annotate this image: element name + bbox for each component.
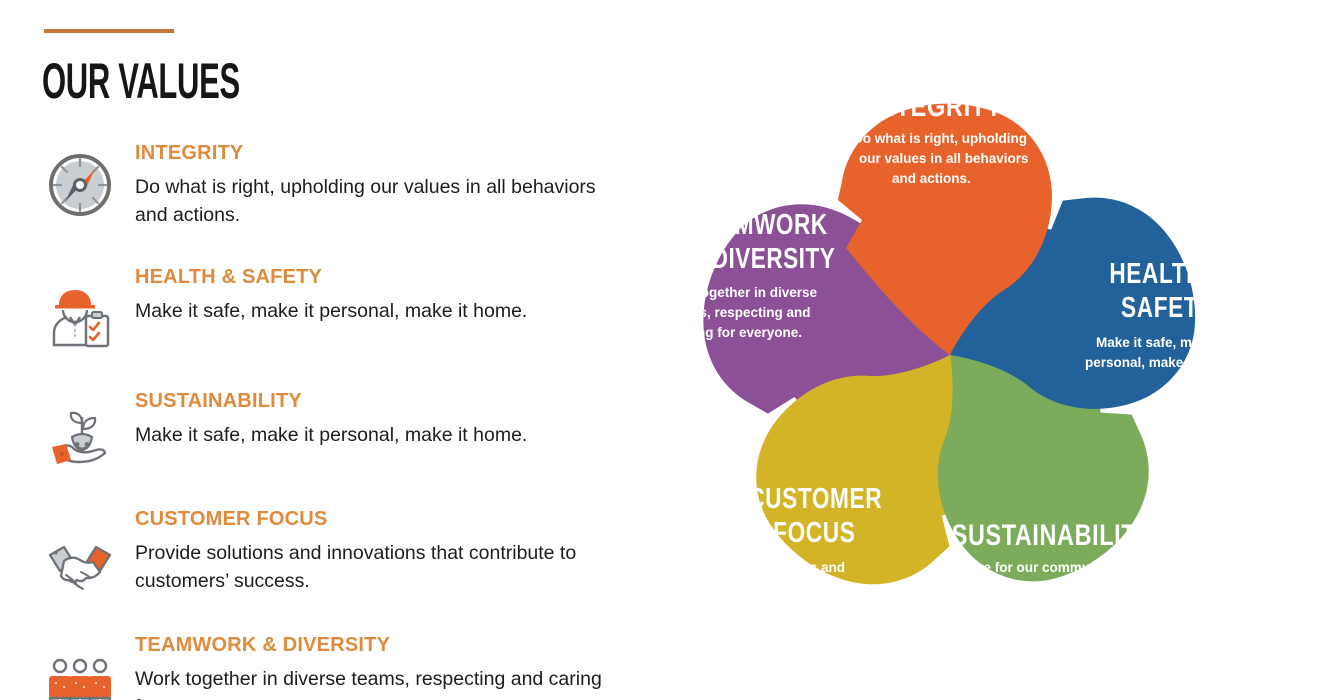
- svg-text:caring for everyone.: caring for everyone.: [673, 325, 802, 340]
- list-item: TEAMWORK & DIVERSITY Work together in di…: [0, 635, 640, 700]
- list-item-description: Do what is right, upholding our values i…: [135, 174, 627, 229]
- svg-text:CUSTOMER: CUSTOMER: [748, 481, 882, 514]
- list-item-heading: HEALTH & SAFETY: [135, 267, 640, 287]
- svg-text:Care for our communities: Care for our communities: [961, 560, 1125, 575]
- svg-text:Work together in diverse: Work together in diverse: [659, 285, 818, 300]
- list-item: SUSTAINABILITY Make it safe, make it per…: [0, 391, 640, 501]
- svg-text:innovations that contribute: innovations that contribute: [685, 580, 859, 595]
- svg-text:Do what is right, upholding: Do what is right, upholding: [853, 131, 1027, 146]
- svg-text:build a sustainable future.: build a sustainable future.: [968, 600, 1135, 615]
- svg-text:personal, make it home.: personal, make it home.: [1085, 355, 1239, 370]
- list-item: CUSTOMER FOCUS Provide solutions and inn…: [0, 509, 640, 619]
- svg-text:INTEGRITY: INTEGRITY: [871, 89, 1003, 122]
- hand-holding-seedling-icon: [42, 397, 118, 473]
- svg-text:and actions.: and actions.: [892, 171, 971, 186]
- hardhat-worker-clipboard-icon: [42, 279, 118, 355]
- handshake-icon: [42, 531, 118, 607]
- svg-text:HEALTH &: HEALTH &: [1109, 256, 1227, 289]
- list-item-description: Make it safe, make it personal, make it …: [135, 422, 627, 450]
- list-item-heading: TEAMWORK & DIVERSITY: [135, 635, 640, 655]
- list-item-description: Make it safe, make it personal, make it …: [135, 298, 627, 326]
- svg-text:FOCUS: FOCUS: [773, 515, 855, 548]
- values-left-column: OUR VALUES: [0, 0, 640, 700]
- list-item-heading: CUSTOMER FOCUS: [135, 509, 640, 529]
- slide-root: OUR VALUES: [0, 0, 1317, 700]
- svg-text:SAFETY: SAFETY: [1121, 290, 1214, 323]
- title-accent-rule: [44, 29, 174, 33]
- svg-text:Make it safe, make it: Make it safe, make it: [1096, 335, 1227, 350]
- svg-text:to customers’ success.: to customers’ success.: [698, 600, 847, 615]
- svg-text:SUSTAINABILITY: SUSTAINABILITY: [952, 518, 1153, 551]
- list-item-heading: INTEGRITY: [135, 143, 640, 163]
- svg-text:TEAMWORK: TEAMWORK: [688, 207, 827, 240]
- three-people-icon: [42, 653, 118, 700]
- list-item: HEALTH & SAFETY Make it safe, make it pe…: [0, 267, 640, 377]
- svg-text:teams, respecting and: teams, respecting and: [668, 305, 811, 320]
- values-pinwheel-diagram: TEAMWORK & DIVERSITY Work together in di…: [600, 10, 1300, 700]
- list-item-description: Work together in diverse teams, respecti…: [135, 666, 627, 700]
- list-item: INTEGRITY Do what is right, upholding ou…: [0, 143, 640, 253]
- svg-text:our values in all behaviors: our values in all behaviors: [859, 151, 1029, 166]
- values-list: INTEGRITY Do what is right, upholding ou…: [0, 143, 640, 700]
- svg-text:& DIVERSITY: & DIVERSITY: [688, 241, 835, 274]
- svg-text:and the environment to: and the environment to: [968, 580, 1117, 595]
- compass-icon: [42, 147, 118, 223]
- svg-text:Provide solutions and: Provide solutions and: [704, 560, 845, 575]
- page-title: OUR VALUES: [42, 54, 240, 108]
- list-item-heading: SUSTAINABILITY: [135, 391, 640, 411]
- list-item-description: Provide solutions and innovations that c…: [135, 540, 627, 595]
